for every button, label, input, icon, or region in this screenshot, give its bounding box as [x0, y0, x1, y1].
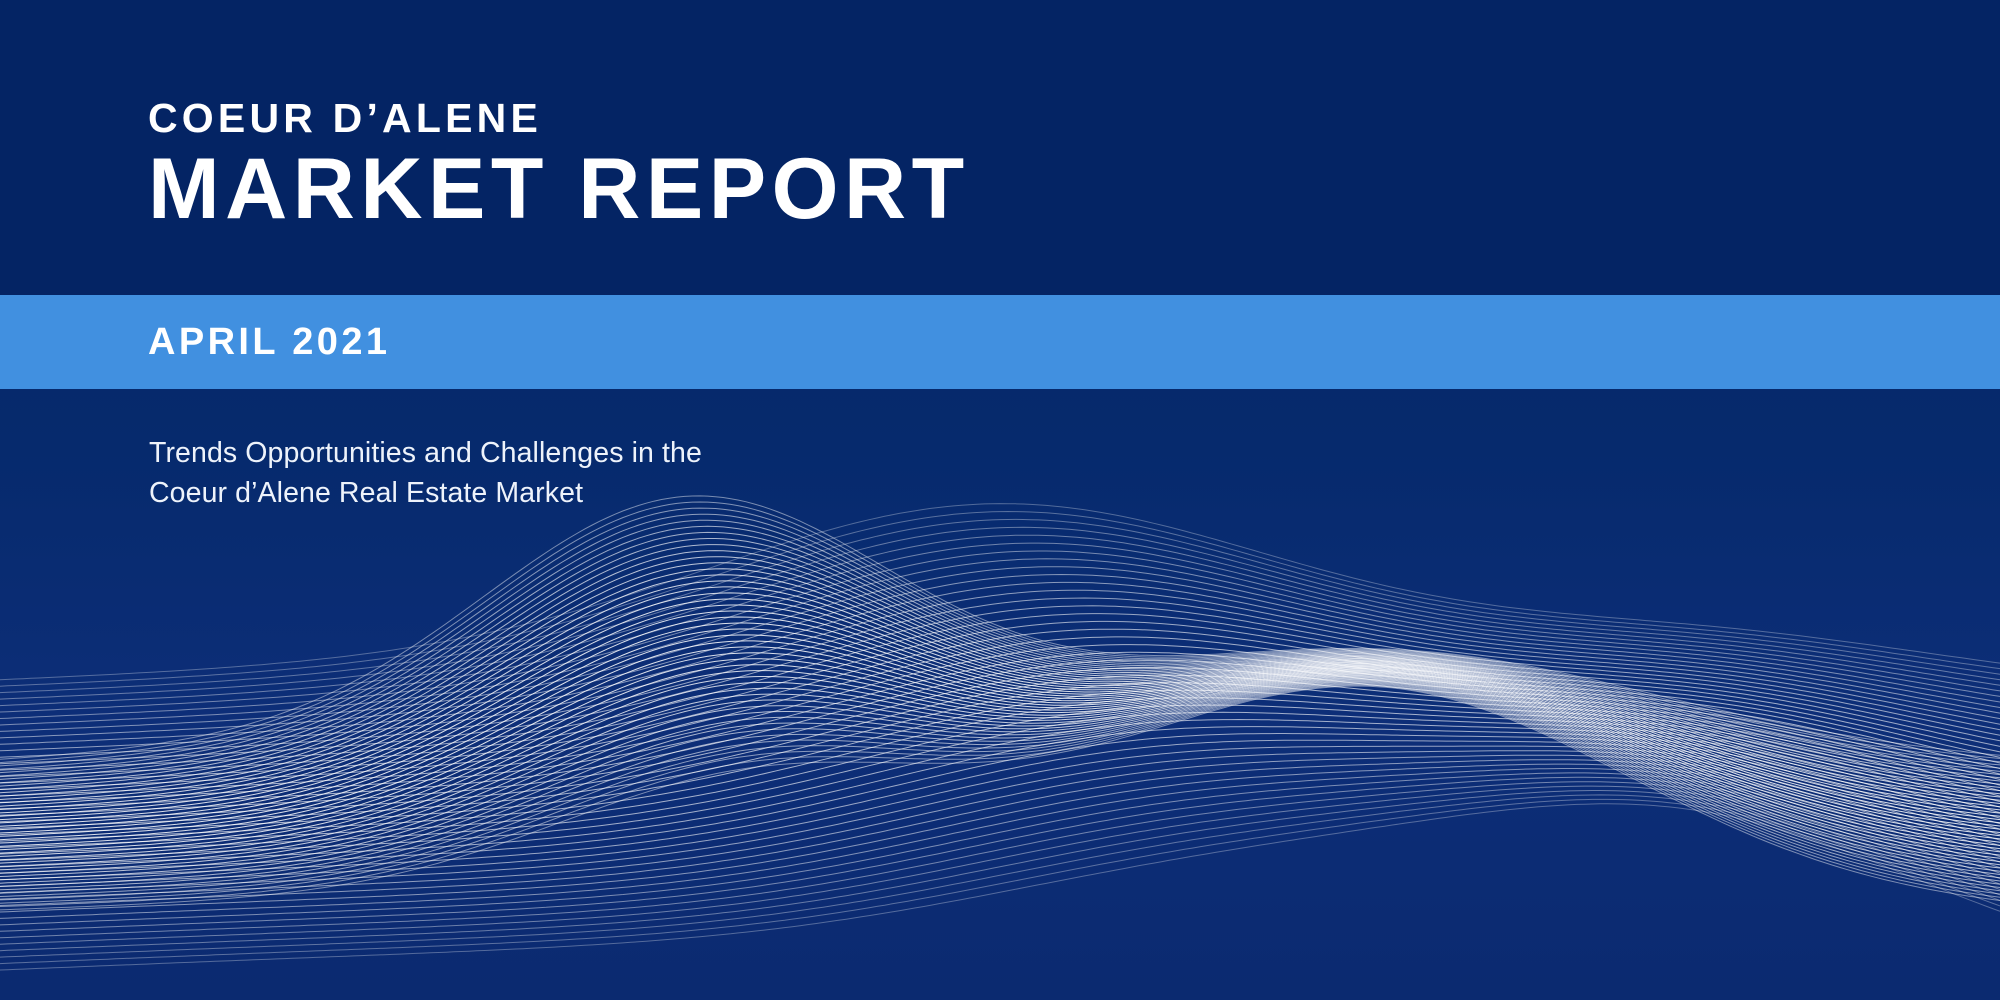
page-title: MARKET REPORT	[148, 146, 970, 232]
date-band: APRIL 2021	[0, 295, 2000, 389]
header-band: COEUR D’ALENE MARKET REPORT	[0, 0, 2000, 295]
report-cover-page: COEUR D’ALENE MARKET REPORT APRIL 2021 T…	[0, 0, 2000, 1000]
subtitle: Trends Opportunities and Challenges in t…	[149, 433, 702, 513]
subtitle-line-1: Trends Opportunities and Challenges in t…	[149, 433, 702, 473]
header-content: COEUR D’ALENE MARKET REPORT	[148, 0, 1848, 295]
subtitle-line-2: Coeur d’Alene Real Estate Market	[149, 473, 702, 513]
issue-date-label: APRIL 2021	[148, 323, 390, 361]
brand-eyebrow: COEUR D’ALENE	[148, 98, 542, 139]
wave-graphic	[0, 430, 2000, 1000]
